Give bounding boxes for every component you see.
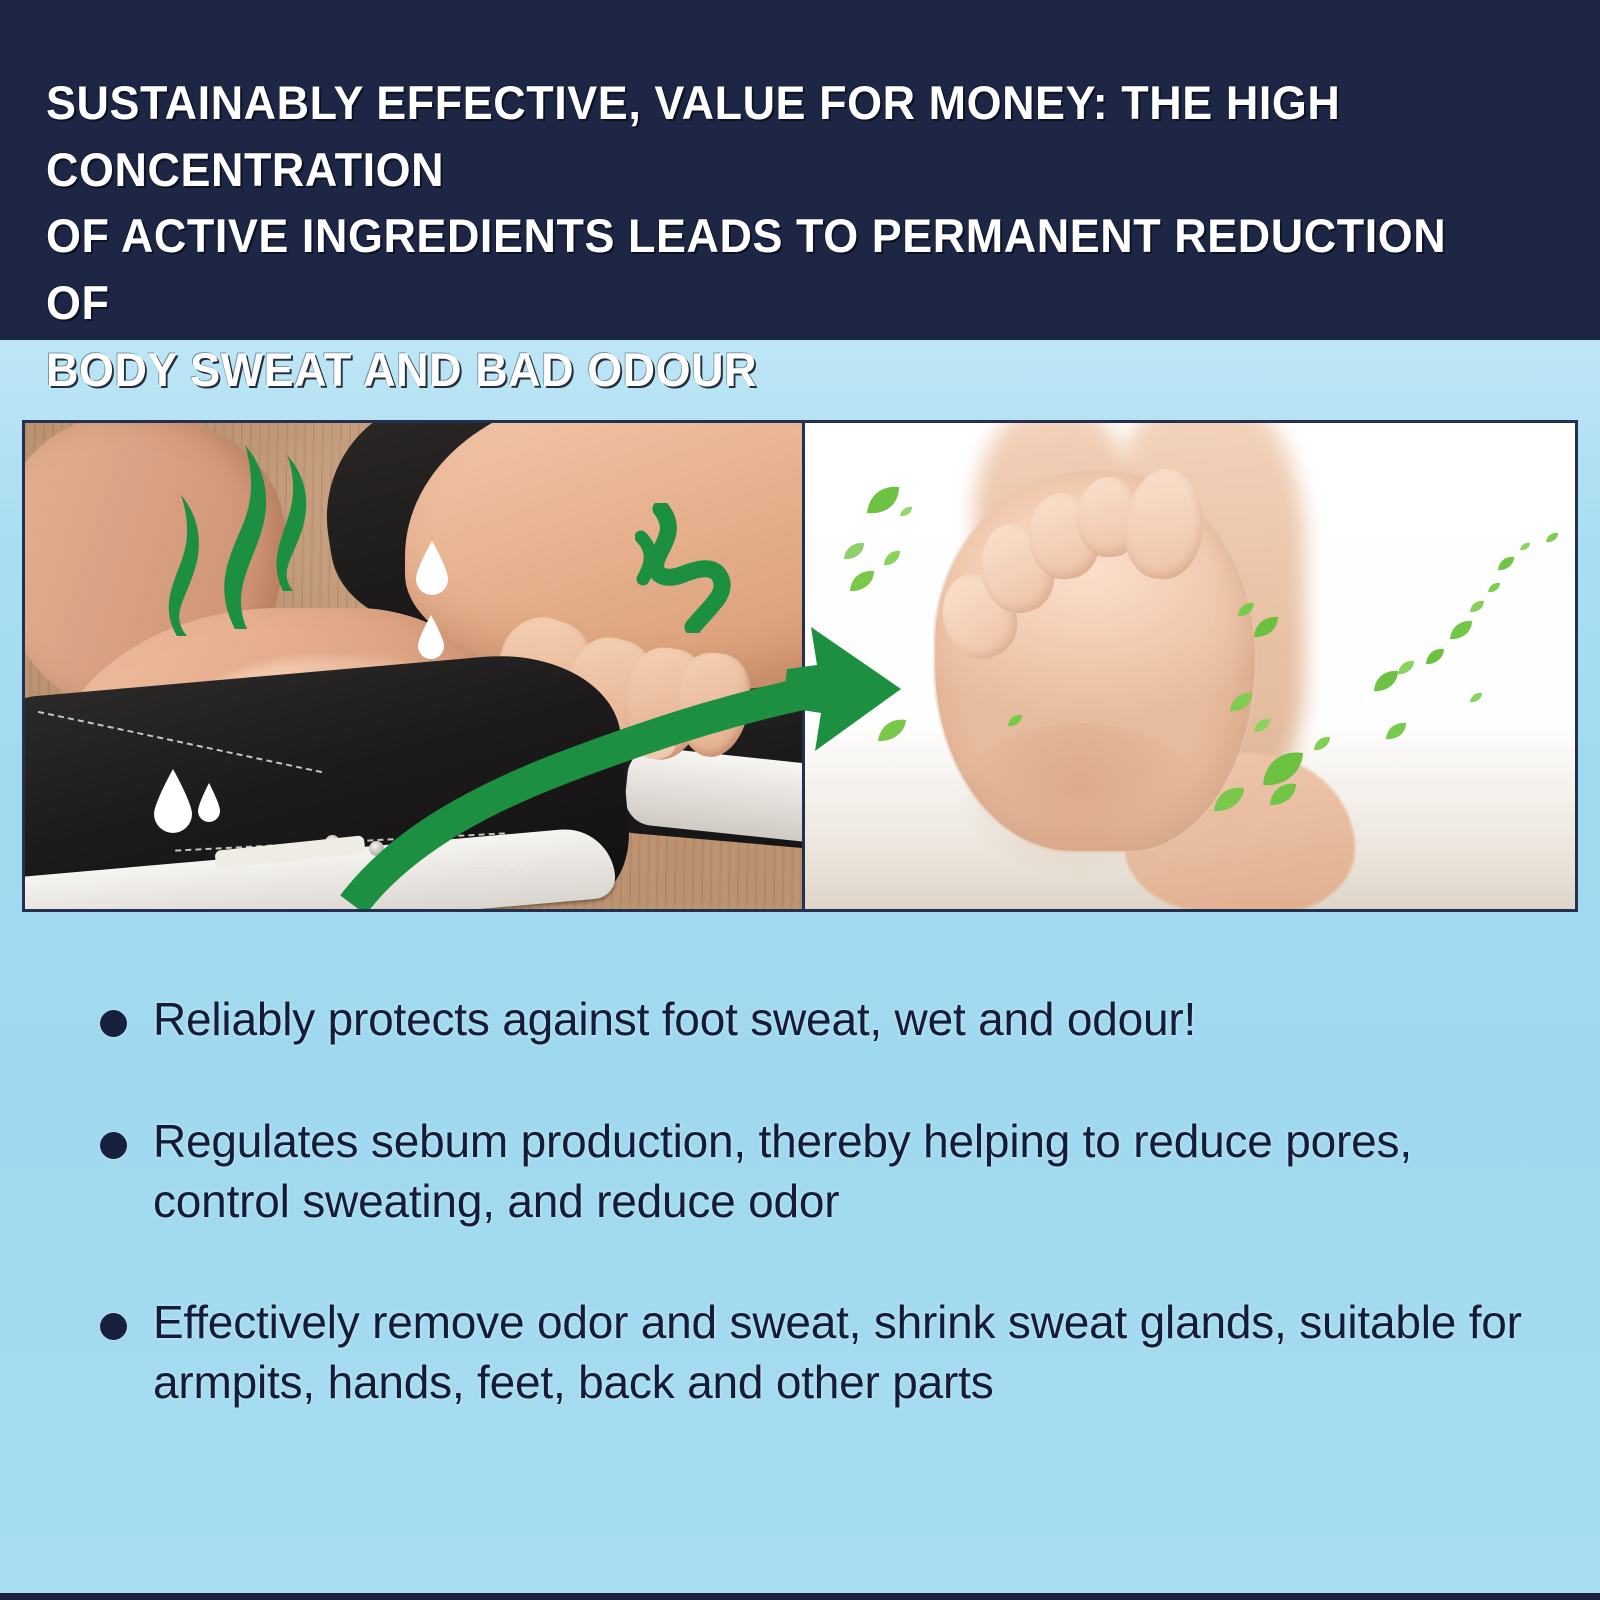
page-title: SUSTAINABLY EFFECTIVE, VALUE FOR MONEY: … <box>46 70 1473 404</box>
list-item: Regulates sebum production, thereby help… <box>100 1112 1560 1232</box>
green-leaf-icon <box>877 717 907 743</box>
list-item-label: Effectively remove odor and sweat, shrin… <box>153 1293 1553 1413</box>
green-leaf-icon <box>1545 531 1559 544</box>
bullet-dot-icon <box>100 1313 127 1340</box>
header-banner: SUSTAINABLY EFFECTIVE, VALUE FOR MONEY: … <box>0 0 1600 340</box>
list-item-label: Reliably protects against foot sweat, we… <box>153 990 1196 1050</box>
list-item-label: Regulates sebum production, thereby help… <box>153 1112 1553 1232</box>
benefits-list: Reliably protects against foot sweat, we… <box>100 990 1560 1413</box>
green-leaf-icon <box>1253 717 1271 734</box>
photo-after-fresh-foot <box>802 423 1576 909</box>
green-leaf-icon <box>865 483 901 517</box>
heel-shading <box>955 723 1205 883</box>
list-item: Effectively remove odor and sweat, shrin… <box>100 1293 1560 1413</box>
sweat-drop-icon <box>153 767 193 833</box>
green-leaf-icon <box>1213 785 1245 813</box>
green-leaf-icon <box>1007 713 1023 728</box>
green-leaf-icon <box>1229 691 1253 713</box>
sweat-drop-icon <box>415 539 449 595</box>
list-item: Reliably protects against foot sweat, we… <box>100 990 1560 1050</box>
green-leaf-icon <box>843 541 865 561</box>
green-leaf-icon <box>1469 691 1483 704</box>
green-leaf-icon <box>849 569 875 593</box>
green-leaf-icon <box>1519 541 1531 552</box>
odour-wave-icon <box>155 493 235 638</box>
green-leaf-icon <box>1497 555 1515 572</box>
green-leaf-icon <box>1253 615 1279 639</box>
sweat-drop-icon <box>417 613 445 659</box>
odour-squiggle-icon <box>635 503 775 633</box>
bullet-dot-icon <box>100 1132 127 1159</box>
toe-nail <box>635 729 675 759</box>
shoe-eyelet <box>369 841 384 856</box>
odour-wave-icon <box>263 453 341 593</box>
promotional-poster: SUSTAINABLY EFFECTIVE, VALUE FOR MONEY: … <box>0 0 1600 1600</box>
photo-before-sweaty-feet <box>25 423 802 909</box>
green-leaf-icon <box>1385 721 1407 741</box>
green-leaf-icon <box>1313 735 1331 752</box>
green-leaf-icon <box>1469 599 1485 614</box>
green-leaf-icon <box>1487 581 1501 594</box>
green-leaf-icon <box>899 505 913 518</box>
green-leaf-icon <box>1373 669 1399 693</box>
bullet-dot-icon <box>100 1010 127 1037</box>
green-leaf-icon <box>1269 781 1297 807</box>
sweat-drop-icon <box>197 781 221 823</box>
green-leaf-icon <box>883 549 901 567</box>
green-leaf-icon <box>1397 659 1415 676</box>
green-leaf-icon <box>1425 647 1445 666</box>
green-leaf-icon <box>1449 619 1473 641</box>
before-after-photo-strip <box>22 420 1578 912</box>
